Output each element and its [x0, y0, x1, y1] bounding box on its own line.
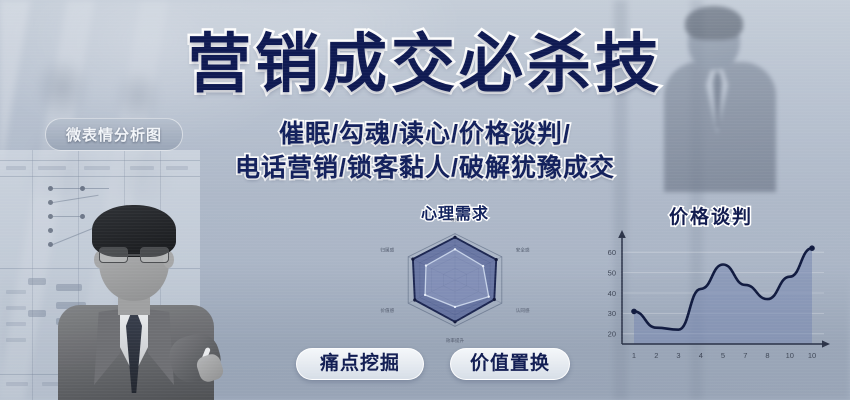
svg-text:尊重: 尊重: [450, 218, 460, 223]
svg-text:安全感: 安全感: [516, 246, 530, 253]
pill-value-exchange: 价值置换: [450, 348, 570, 380]
svg-text:8: 8: [765, 351, 769, 360]
subtitle-line-1: 催眠/勾魂/读心/价格谈判/: [0, 118, 850, 150]
pill-pain-point-mining: 痛点挖掘: [296, 348, 424, 380]
svg-text:10: 10: [808, 351, 816, 360]
subtitle-line-2: 电话营销/锁客黏人/破解犹豫成交: [0, 152, 850, 184]
line-chart-svg: 6050403020 12345781010: [586, 222, 836, 382]
svg-text:认同感: 认同感: [516, 307, 530, 314]
svg-text:60: 60: [608, 248, 616, 257]
radar-chart: 心理需求 尊重安全感认同感效率提升价值感归属感: [340, 200, 570, 350]
svg-text:2: 2: [654, 351, 658, 360]
svg-text:10: 10: [786, 351, 794, 360]
presenter-photo: [52, 205, 220, 400]
svg-text:50: 50: [608, 268, 616, 277]
svg-text:效率提升: 效率提升: [446, 337, 465, 344]
radar-chart-svg: 尊重安全感认同感效率提升价值感归属感: [340, 218, 570, 350]
svg-text:5: 5: [721, 351, 725, 360]
svg-text:40: 40: [608, 289, 616, 298]
svg-text:价值感: 价值感: [380, 307, 394, 314]
svg-text:归属感: 归属感: [380, 246, 394, 253]
svg-text:4: 4: [699, 351, 703, 360]
svg-text:3: 3: [676, 351, 680, 360]
svg-text:1: 1: [632, 351, 636, 360]
line-chart-y-tick-labels: 6050403020: [608, 248, 616, 339]
page-title: 营销成交必杀技: [0, 32, 850, 96]
svg-text:7: 7: [743, 351, 747, 360]
line-chart-x-tick-labels: 12345781010: [632, 351, 816, 360]
svg-text:30: 30: [608, 309, 616, 318]
marketing-course-banner: 微表情分析图 营销成交必杀技 催眠/勾魂/读心/价格谈判/ 电话营销/锁客黏人/…: [0, 0, 850, 400]
line-chart: 价格谈判 6050403020 12345781010: [586, 200, 836, 385]
line-chart-area: [634, 248, 812, 344]
svg-text:20: 20: [608, 330, 616, 339]
